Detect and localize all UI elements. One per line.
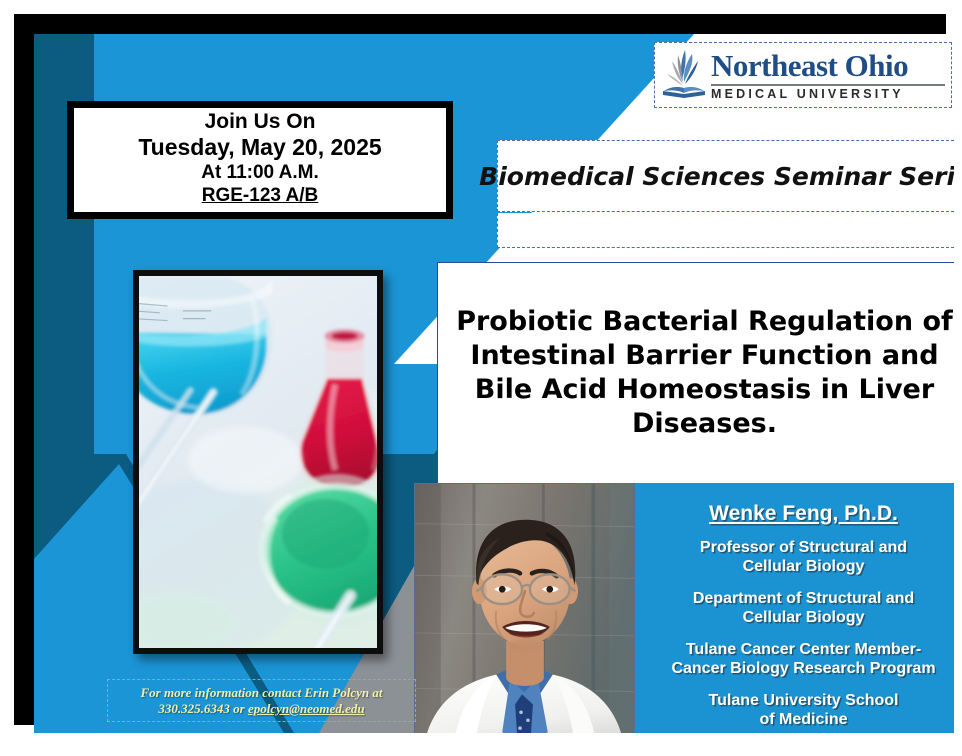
contact-phone: 330.325.6343 or <box>158 701 248 716</box>
laboratory-beakers-photo <box>133 270 383 654</box>
seminar-series-banner: Biomedical Sciences Seminar Series <box>497 140 954 212</box>
neomed-logo-rule <box>711 84 945 86</box>
seminar-time: At 11:00 A.M. <box>201 161 319 184</box>
speaker-affiliation-4: Tulane University School of Medicine <box>641 691 954 729</box>
speaker-affiliation-3: Tulane Cancer Center Member- Cancer Biol… <box>641 640 954 678</box>
contact-email-link[interactable]: epolcyn@neomed.edu <box>248 701 365 716</box>
speaker-name: Wenke Feng, Ph.D. <box>641 501 954 526</box>
speaker-info-panel: Wenke Feng, Ph.D. Professor of Structura… <box>635 483 954 733</box>
seminar-series-subbox <box>497 213 954 248</box>
seminar-poster: Northeast Ohio MEDICAL UNIVERSITY Join U… <box>0 0 962 756</box>
join-us-heading: Join Us On <box>205 109 316 134</box>
neomed-flame-book-logo-icon <box>661 48 707 102</box>
speaker-affiliation-1: Professor of Structural and Cellular Bio… <box>641 538 954 576</box>
contact-info: For more information contact Erin Polcyn… <box>107 679 416 722</box>
seminar-series-label: Biomedical Sciences Seminar Series <box>479 162 954 191</box>
neomed-logo: Northeast Ohio MEDICAL UNIVERSITY <box>654 42 952 108</box>
neomed-logo-line1: Northeast Ohio <box>711 50 945 82</box>
speaker-affiliation-2: Department of Structural and Cellular Bi… <box>641 589 954 627</box>
contact-line-1: For more information contact Erin Polcyn… <box>141 685 383 700</box>
contact-text-wrap: For more information contact Erin Polcyn… <box>141 685 383 717</box>
neomed-logo-line2: MEDICAL UNIVERSITY <box>711 88 945 101</box>
poster-canvas: Northeast Ohio MEDICAL UNIVERSITY Join U… <box>34 34 954 733</box>
poster-frame: Northeast Ohio MEDICAL UNIVERSITY Join U… <box>14 14 946 725</box>
neomed-logo-wordmark: Northeast Ohio MEDICAL UNIVERSITY <box>707 50 945 101</box>
seminar-title-box: Probiotic Bacterial Regulation of Intest… <box>437 262 954 484</box>
seminar-location: RGE-123 A/B <box>202 184 319 207</box>
join-us-box: Join Us On Tuesday, May 20, 2025 At 11:0… <box>67 101 453 219</box>
speaker-headshot <box>414 483 635 733</box>
seminar-title: Probiotic Bacterial Regulation of Intest… <box>438 305 954 441</box>
seminar-date: Tuesday, May 20, 2025 <box>138 134 381 161</box>
